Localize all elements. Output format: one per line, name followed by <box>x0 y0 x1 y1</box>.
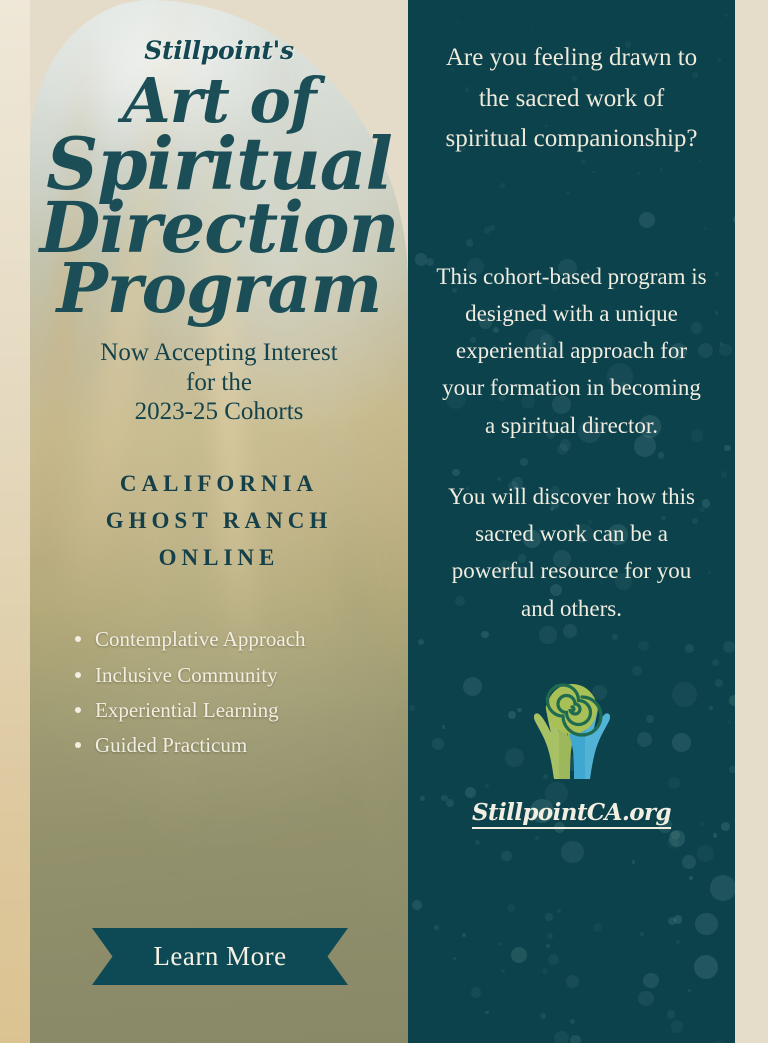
feature-bullet-list: Contemplative Approach Inclusive Communi… <box>69 622 369 763</box>
learn-more-button[interactable]: Learn More <box>92 928 348 985</box>
accepting-interest-text: Now Accepting Interest for the 2023-25 C… <box>100 338 337 427</box>
poster-flyer: Stillpoint's Art of Spiritual Direction … <box>0 0 768 1043</box>
locations-list: CALIFORNIA GHOST RANCH ONLINE <box>106 465 332 577</box>
right-border-strip <box>735 0 768 1043</box>
left-column: Stillpoint's Art of Spiritual Direction … <box>30 0 408 1043</box>
learn-more-label: Learn More <box>153 941 286 972</box>
location-item-online: ONLINE <box>106 539 332 576</box>
list-item: Inclusive Community <box>69 658 369 693</box>
location-item-ghost-ranch: GHOST RANCH <box>106 502 332 539</box>
list-item: Guided Practicum <box>69 728 369 763</box>
spiral-in-cupped-hands-icon <box>502 681 642 781</box>
title-line-4: Program <box>57 257 382 322</box>
website-wordmark[interactable]: StillpointCA.org <box>472 799 671 829</box>
list-item: Experiential Learning <box>69 693 369 728</box>
location-item-california: CALIFORNIA <box>106 465 332 502</box>
left-border-strip <box>0 0 30 1043</box>
brand-eyebrow: Stillpoint's <box>144 36 294 65</box>
accepting-line: for the <box>100 368 337 398</box>
headline-question: Are you feeling drawn to the sacred work… <box>436 38 708 160</box>
accepting-line: Now Accepting Interest <box>100 338 337 368</box>
accepting-line: 2023-25 Cohorts <box>100 397 337 427</box>
list-item: Contemplative Approach <box>69 622 369 657</box>
paragraph-discover: You will discover how this sacred work c… <box>436 478 708 627</box>
right-column: Are you feeling drawn to the sacred work… <box>408 0 735 1043</box>
paragraph-program-description: This cohort-based program is designed wi… <box>436 258 708 444</box>
